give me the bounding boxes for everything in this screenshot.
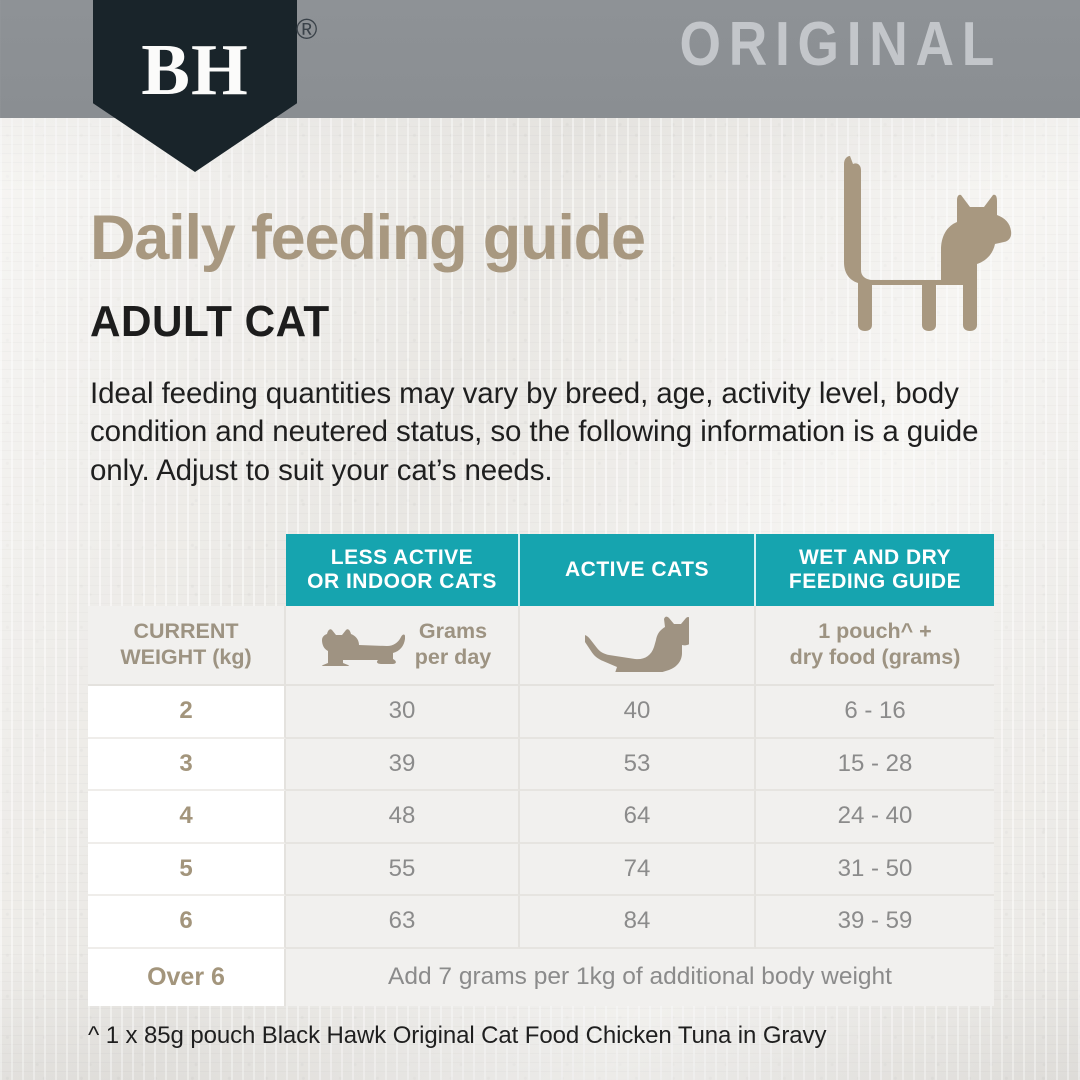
page-title: Daily feeding guide [90, 207, 645, 270]
cell-less-active: 63 [286, 896, 520, 949]
cell-less-active: 39 [286, 739, 520, 792]
table-row: 3395315 - 28 [88, 739, 994, 792]
group-header-wet-dry-line1: WET AND DRY [789, 546, 961, 570]
wet-dry-sub-line1: 1 pouch^ + [790, 619, 961, 645]
cell-wet-and-dry: 31 - 50 [756, 844, 994, 897]
intro-paragraph: Ideal feeding quantities may vary by bre… [90, 375, 995, 490]
running-cat-icon [585, 614, 689, 677]
grams-per-day-line1: Grams [415, 619, 491, 645]
column-header-current-weight: CURRENT WEIGHT (kg) [88, 606, 286, 686]
column-header-less-active: Grams per day [286, 606, 520, 686]
cell-current-weight: 2 [88, 686, 286, 739]
table-row: 4486424 - 40 [88, 791, 994, 844]
current-weight-line1: CURRENT [120, 619, 251, 645]
cell-current-weight: 4 [88, 791, 286, 844]
brand-logo-shield: BH [93, 0, 297, 172]
cell-wet-and-dry: 15 - 28 [756, 739, 994, 792]
group-header-less-active-line2: OR INDOOR CATS [307, 570, 497, 594]
table-row: 5557431 - 50 [88, 844, 994, 897]
product-line-label: ORIGINAL [679, 14, 1002, 76]
column-header-wet-and-dry: 1 pouch^ + dry food (grams) [756, 606, 994, 686]
table-group-header-row: LESS ACTIVE OR INDOOR CATS ACTIVE CATS W… [88, 534, 994, 606]
group-header-wet-and-dry: WET AND DRY FEEDING GUIDE [756, 534, 994, 606]
lying-cat-icon [313, 620, 405, 671]
grams-per-day-line2: per day [415, 645, 491, 671]
table-row: 230406 - 16 [88, 686, 994, 739]
standing-cat-icon [826, 152, 1016, 348]
footnote: ^ 1 x 85g pouch Black Hawk Original Cat … [88, 1022, 826, 1050]
group-header-active-cats: ACTIVE CATS [520, 534, 756, 606]
feeding-guide-table: LESS ACTIVE OR INDOOR CATS ACTIVE CATS W… [88, 534, 994, 1006]
cell-active: 40 [520, 686, 756, 739]
group-header-wet-dry-line2: FEEDING GUIDE [789, 570, 961, 594]
group-header-less-active-line1: LESS ACTIVE [307, 546, 497, 570]
cell-wet-and-dry: 39 - 59 [756, 896, 994, 949]
cell-active: 74 [520, 844, 756, 897]
cell-current-weight: 3 [88, 739, 286, 792]
cell-wet-and-dry: 24 - 40 [756, 791, 994, 844]
page-subtitle: ADULT CAT [90, 300, 330, 344]
cell-active: 84 [520, 896, 756, 949]
cell-active: 53 [520, 739, 756, 792]
cell-less-active: 48 [286, 791, 520, 844]
group-header-less-active: LESS ACTIVE OR INDOOR CATS [286, 534, 520, 606]
cell-current-weight: 6 [88, 896, 286, 949]
wet-dry-sub-line2: dry food (grams) [790, 645, 961, 671]
table-body: 230406 - 163395315 - 284486424 - 4055574… [88, 686, 994, 949]
table-row-over-6: Over 6 Add 7 grams per 1kg of additional… [88, 949, 994, 1006]
group-header-active-cats-label: ACTIVE CATS [565, 558, 709, 582]
cell-current-weight: 5 [88, 844, 286, 897]
current-weight-line2: WEIGHT (kg) [120, 645, 251, 671]
cell-wet-and-dry: 6 - 16 [756, 686, 994, 739]
cell-active: 64 [520, 791, 756, 844]
registered-trademark-icon: ® [296, 16, 317, 45]
brand-logo-text: BH [93, 33, 297, 106]
group-header-spacer [88, 534, 286, 606]
column-header-active-cats [520, 606, 756, 686]
table-row: 6638439 - 59 [88, 896, 994, 949]
cell-less-active: 30 [286, 686, 520, 739]
over-6-note-cell: Add 7 grams per 1kg of additional body w… [286, 949, 994, 1006]
over-6-weight-cell: Over 6 [88, 949, 286, 1006]
table-sub-header-row: CURRENT WEIGHT (kg) Grams per day [88, 606, 994, 686]
cell-less-active: 55 [286, 844, 520, 897]
